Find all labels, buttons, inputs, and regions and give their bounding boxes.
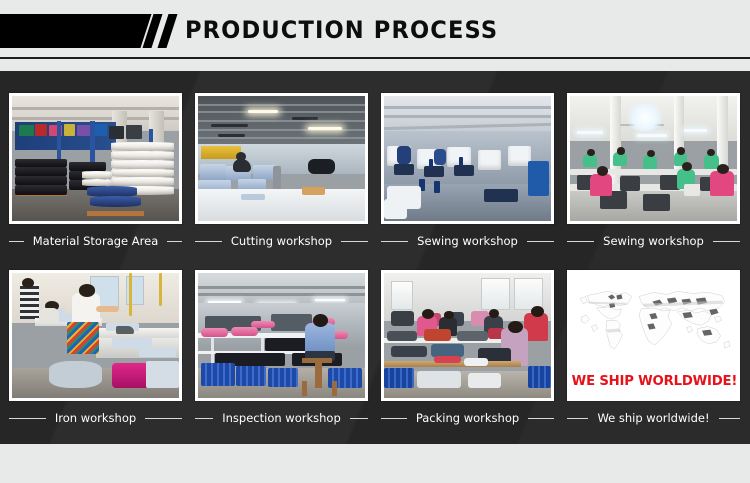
thumbnail-image-sewing-workshop-1 bbox=[384, 96, 551, 221]
caption-rule-left bbox=[9, 241, 24, 242]
thumbnail-image-material-storage bbox=[12, 96, 179, 221]
caption-row: Sewing workshop bbox=[567, 232, 740, 250]
caption-row: Cutting workshop bbox=[195, 232, 368, 250]
thumbnail-frame[interactable] bbox=[9, 270, 182, 401]
caption-text: Packing workshop bbox=[407, 411, 528, 425]
caption-row: Iron workshop bbox=[9, 409, 182, 427]
caption-row: Packing workshop bbox=[381, 409, 554, 427]
gallery-panel: Material Storage Area bbox=[0, 71, 750, 444]
gallery-item[interactable]: Material Storage Area bbox=[9, 93, 182, 263]
page-footer-spacer bbox=[0, 444, 750, 483]
caption-row: Sewing workshop bbox=[381, 232, 554, 250]
caption-rule-left bbox=[381, 418, 407, 419]
caption-row: We ship worldwide! bbox=[567, 409, 740, 427]
gallery-grid: Material Storage Area bbox=[0, 71, 750, 444]
page-header: PRODUCTION PROCESS bbox=[0, 0, 750, 62]
caption-rule-left bbox=[381, 241, 408, 242]
caption-rule-left bbox=[195, 418, 213, 419]
thumbnail-image-iron-workshop bbox=[12, 273, 179, 398]
caption-text: Material Storage Area bbox=[24, 234, 168, 248]
thumbnail-image-sewing-workshop-2 bbox=[570, 96, 737, 221]
caption-text: Sewing workshop bbox=[594, 234, 713, 248]
thumbnail-frame[interactable] bbox=[567, 93, 740, 224]
page-title: PRODUCTION PROCESS bbox=[185, 13, 498, 47]
thumbnail-frame[interactable] bbox=[381, 270, 554, 401]
thumbnail-frame[interactable] bbox=[381, 93, 554, 224]
thumbnail-frame[interactable] bbox=[9, 93, 182, 224]
caption-rule-right bbox=[350, 418, 368, 419]
header-black-bar bbox=[0, 14, 152, 48]
caption-rule-left bbox=[567, 241, 594, 242]
thumbnail-image-packing-workshop bbox=[384, 273, 551, 398]
caption-rule-left bbox=[195, 241, 222, 242]
thumbnail-frame[interactable] bbox=[195, 93, 368, 224]
gallery-item[interactable]: Sewing workshop bbox=[567, 93, 740, 263]
gallery-item[interactable]: WE SHIP WORLDWIDE! We ship worldwide! bbox=[567, 270, 740, 440]
gallery-item[interactable]: Packing workshop bbox=[381, 270, 554, 440]
caption-rule-right bbox=[527, 241, 554, 242]
caption-rule-right bbox=[528, 418, 554, 419]
thumbnail-image-world-map: WE SHIP WORLDWIDE! bbox=[570, 273, 737, 398]
gallery-item[interactable]: Cutting workshop bbox=[195, 93, 368, 263]
caption-rule-right bbox=[167, 241, 182, 242]
caption-rule-right bbox=[341, 241, 368, 242]
gallery-item[interactable]: Iron workshop bbox=[9, 270, 182, 440]
caption-rule-left bbox=[567, 418, 588, 419]
world-map-icon bbox=[575, 281, 732, 359]
caption-row: Inspection workshop bbox=[195, 409, 368, 427]
caption-rule-right bbox=[145, 418, 182, 419]
thumbnail-image-cutting-workshop bbox=[198, 96, 365, 221]
gallery-item[interactable]: Sewing workshop bbox=[381, 93, 554, 263]
caption-text: We ship worldwide! bbox=[588, 411, 718, 425]
caption-rule-right bbox=[719, 418, 740, 419]
gallery-item[interactable]: Inspection workshop bbox=[195, 270, 368, 440]
caption-text: Iron workshop bbox=[46, 411, 145, 425]
caption-rule-left bbox=[9, 418, 46, 419]
thumbnail-frame[interactable]: WE SHIP WORLDWIDE! bbox=[567, 270, 740, 401]
caption-text: Inspection workshop bbox=[213, 411, 350, 425]
caption-row: Material Storage Area bbox=[9, 232, 182, 250]
thumbnail-image-inspection-workshop bbox=[198, 273, 365, 398]
header-divider bbox=[0, 57, 750, 59]
thumbnail-frame[interactable] bbox=[195, 270, 368, 401]
world-map-overlay-text: WE SHIP WORLDWIDE! bbox=[572, 373, 736, 389]
caption-rule-right bbox=[713, 241, 740, 242]
production-process-page: PRODUCTION PROCESS bbox=[0, 0, 750, 483]
caption-text: Sewing workshop bbox=[408, 234, 527, 248]
caption-text: Cutting workshop bbox=[222, 234, 341, 248]
